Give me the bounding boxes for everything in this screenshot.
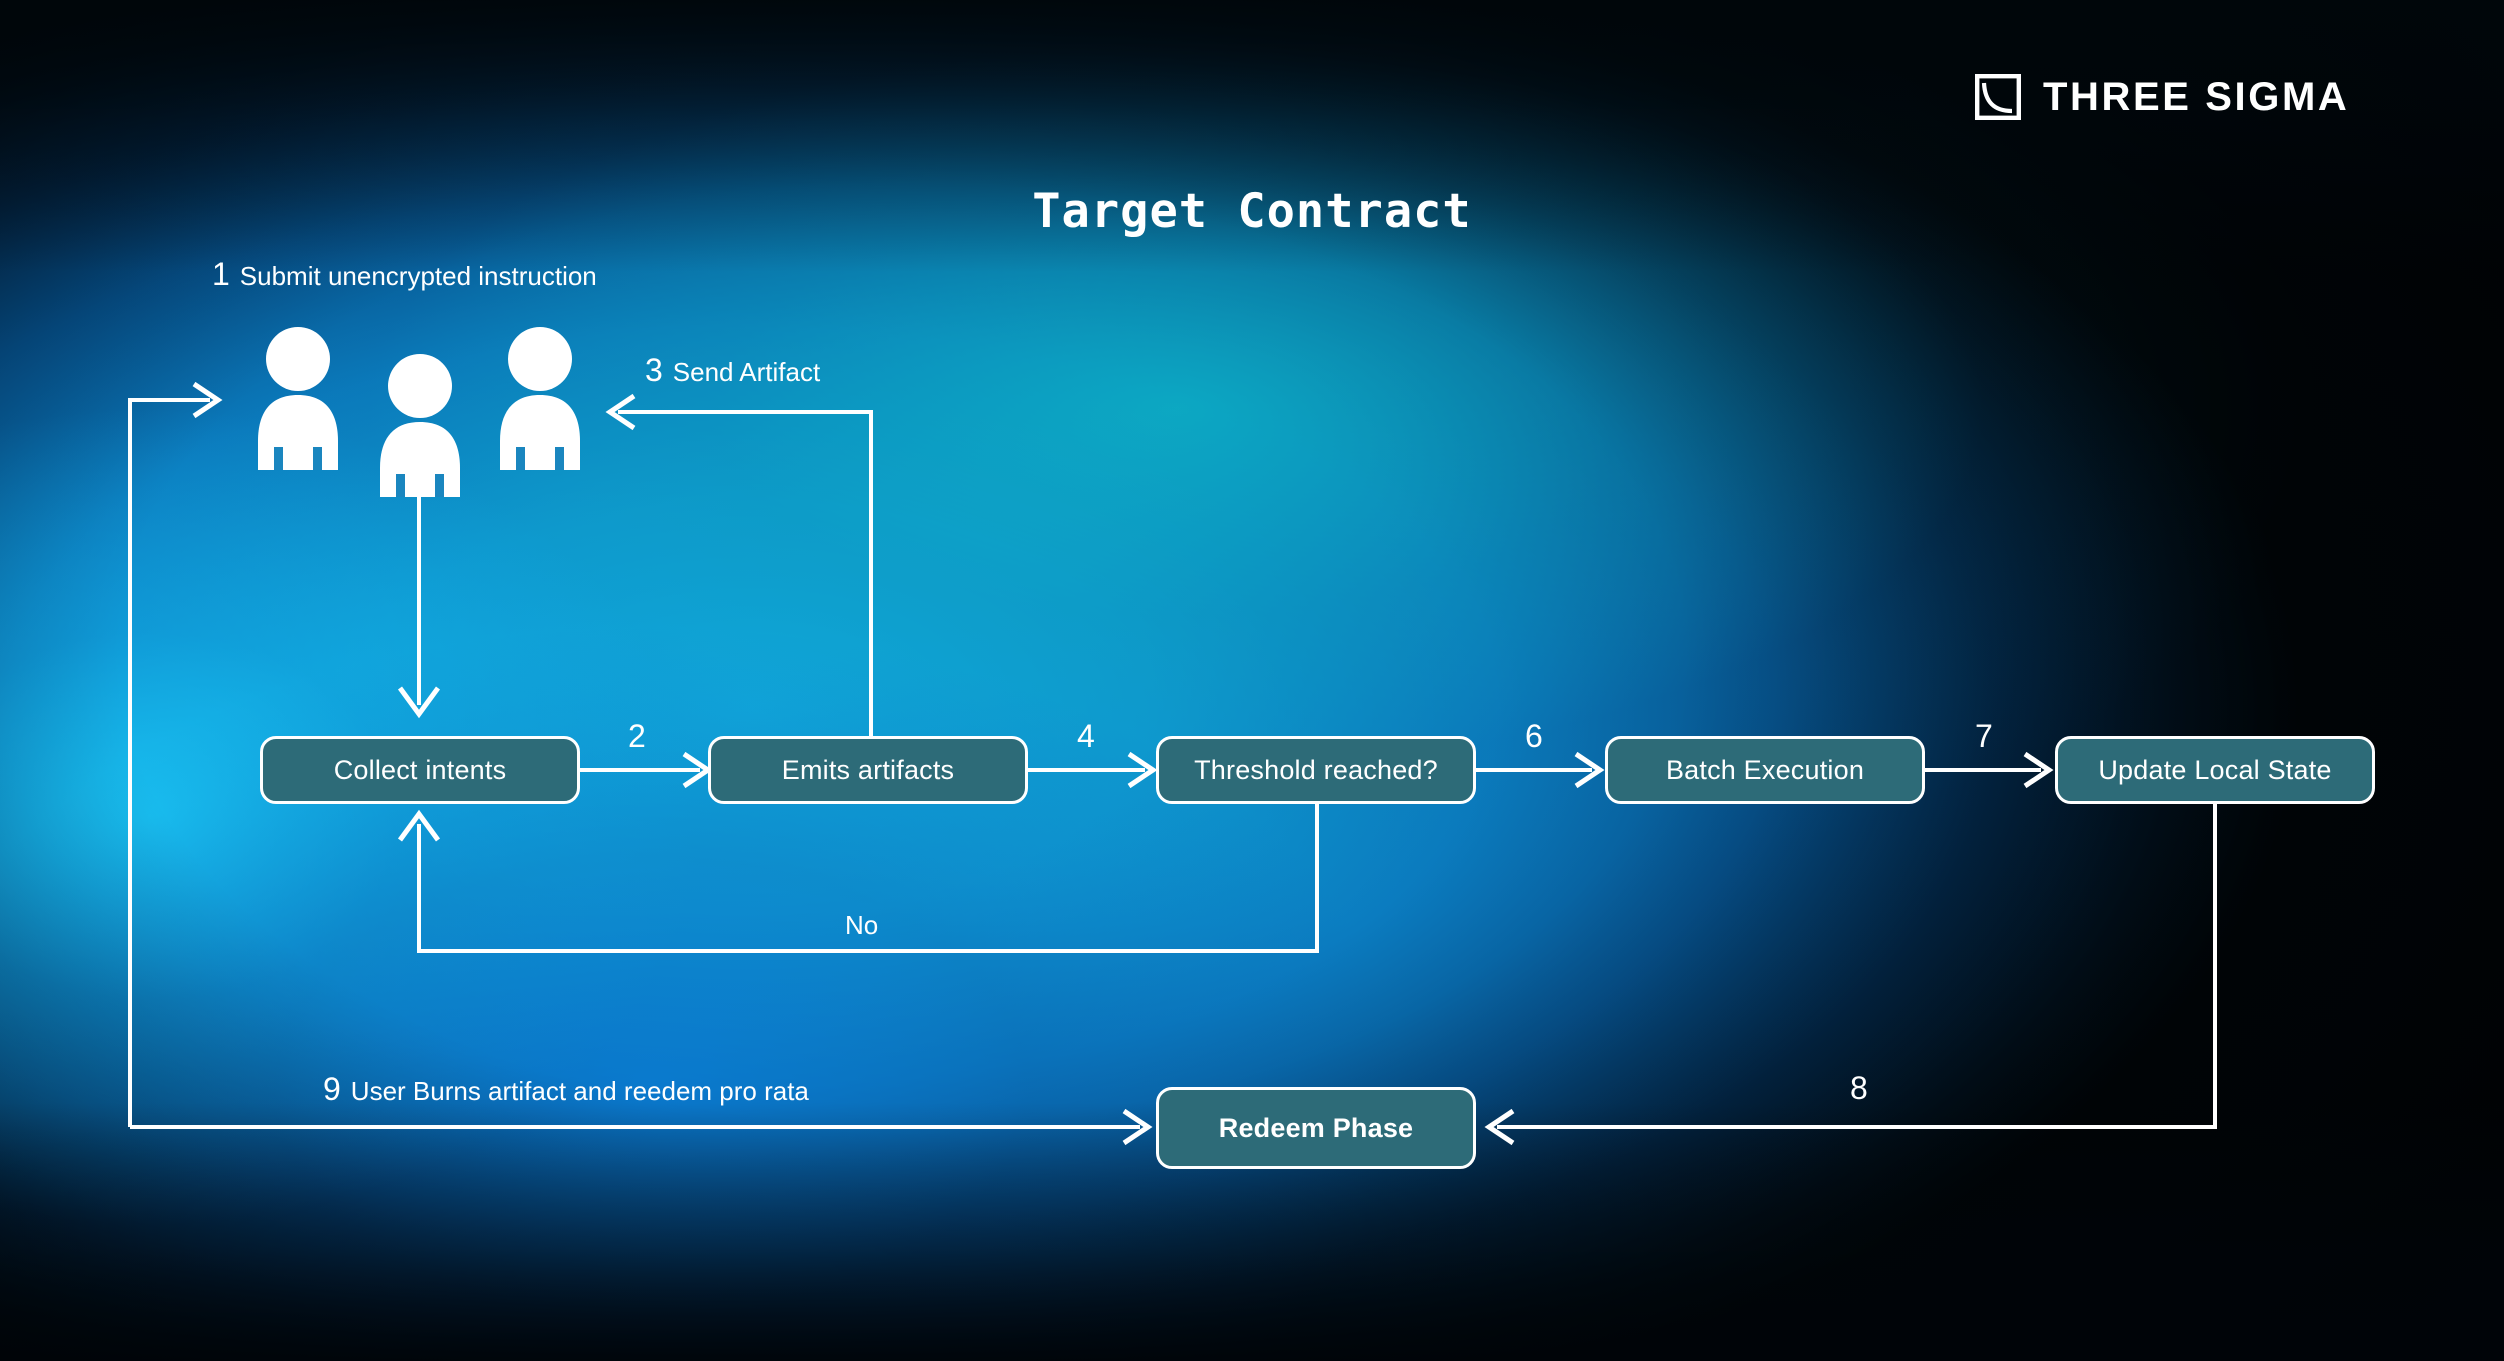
node-label: Emits artifacts xyxy=(782,755,955,786)
node-collect-intents[interactable]: Collect intents xyxy=(260,736,580,804)
node-threshold-reached[interactable]: Threshold reached? xyxy=(1156,736,1476,804)
node-emits-artifacts[interactable]: Emits artifacts xyxy=(708,736,1028,804)
edge-label-7: 7 xyxy=(1975,720,1993,752)
step-9-text: User Burns artifact and reedem pro rata xyxy=(351,1076,809,1106)
step-1-number: 1 xyxy=(212,256,230,292)
edge-label-no: No xyxy=(845,912,878,938)
step-label-1: 1Submit unencrypted instruction xyxy=(212,258,597,290)
user-icon-left xyxy=(250,325,346,470)
step-9-number: 9 xyxy=(323,1071,341,1107)
node-label: Batch Execution xyxy=(1666,755,1864,786)
user-icon-right xyxy=(492,325,588,470)
edge-label-8: 8 xyxy=(1850,1072,1868,1104)
edge-label-6: 6 xyxy=(1525,720,1543,752)
user-icon-middle xyxy=(372,352,468,497)
step-3-number: 3 xyxy=(645,352,663,388)
node-label: Update Local State xyxy=(2098,755,2331,786)
step-1-text: Submit unencrypted instruction xyxy=(240,261,597,291)
node-update-local-state[interactable]: Update Local State xyxy=(2055,736,2375,804)
edge-label-4: 4 xyxy=(1077,720,1095,752)
diagram-canvas: THREE SIGMA Target Contract xyxy=(0,0,2504,1361)
node-label: Redeem Phase xyxy=(1219,1113,1414,1144)
step-3-text: Send Artifact xyxy=(673,357,820,387)
node-batch-execution[interactable]: Batch Execution xyxy=(1605,736,1925,804)
edge-label-2: 2 xyxy=(628,720,646,752)
edge-redeem-back-to-users xyxy=(130,400,210,1127)
edge-emits-to-users xyxy=(618,412,871,738)
node-redeem-phase[interactable]: Redeem Phase xyxy=(1156,1087,1476,1169)
node-label: Collect intents xyxy=(334,755,507,786)
step-label-9: 9User Burns artifact and reedem pro rata xyxy=(323,1073,809,1105)
step-label-3: 3Send Artifact xyxy=(645,354,820,386)
node-label: Threshold reached? xyxy=(1194,755,1438,786)
